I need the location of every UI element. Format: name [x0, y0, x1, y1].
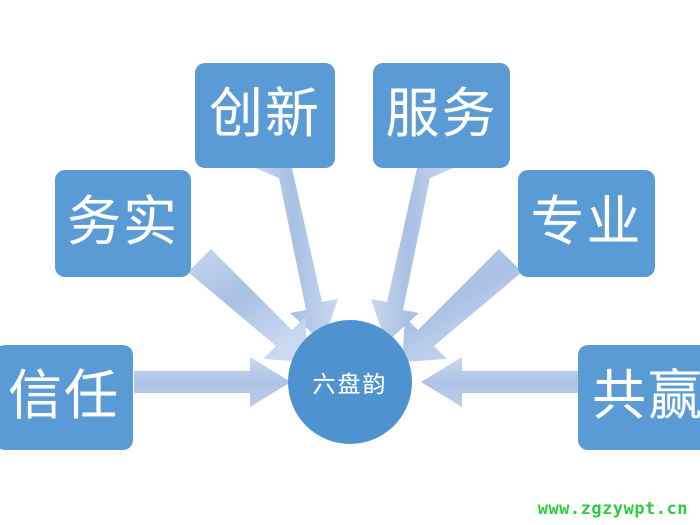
node-label-wushi: 务实	[67, 195, 179, 249]
node-label-chuangxin: 创新	[209, 87, 321, 141]
node-label-gongying: 共赢	[592, 369, 700, 423]
center-hub-label: 六盘韵	[313, 365, 388, 399]
arrow-gongying-to-center	[421, 357, 578, 407]
arrow-wushi-to-center	[188, 249, 308, 362]
node-label-xinren: 信任	[8, 369, 120, 423]
arrow-zhuanye-to-center	[402, 249, 522, 362]
center-hub-node[interactable]: 六盘韵	[288, 320, 412, 444]
node-box-wushi[interactable]: 务实	[55, 170, 191, 277]
node-box-chuangxin[interactable]: 创新	[195, 63, 335, 168]
node-label-zhuanye: 专业	[531, 195, 643, 249]
arrow-xinren-to-center	[134, 357, 291, 407]
node-box-xinren[interactable]: 信任	[0, 345, 133, 450]
node-box-fuwu[interactable]: 服务	[373, 63, 510, 168]
node-label-fuwu: 服务	[386, 87, 498, 141]
node-box-zhuanye[interactable]: 专业	[518, 170, 655, 277]
watermark-text: www.zgzywpt.cn	[538, 499, 688, 519]
node-box-gongying[interactable]: 共赢	[578, 345, 700, 450]
